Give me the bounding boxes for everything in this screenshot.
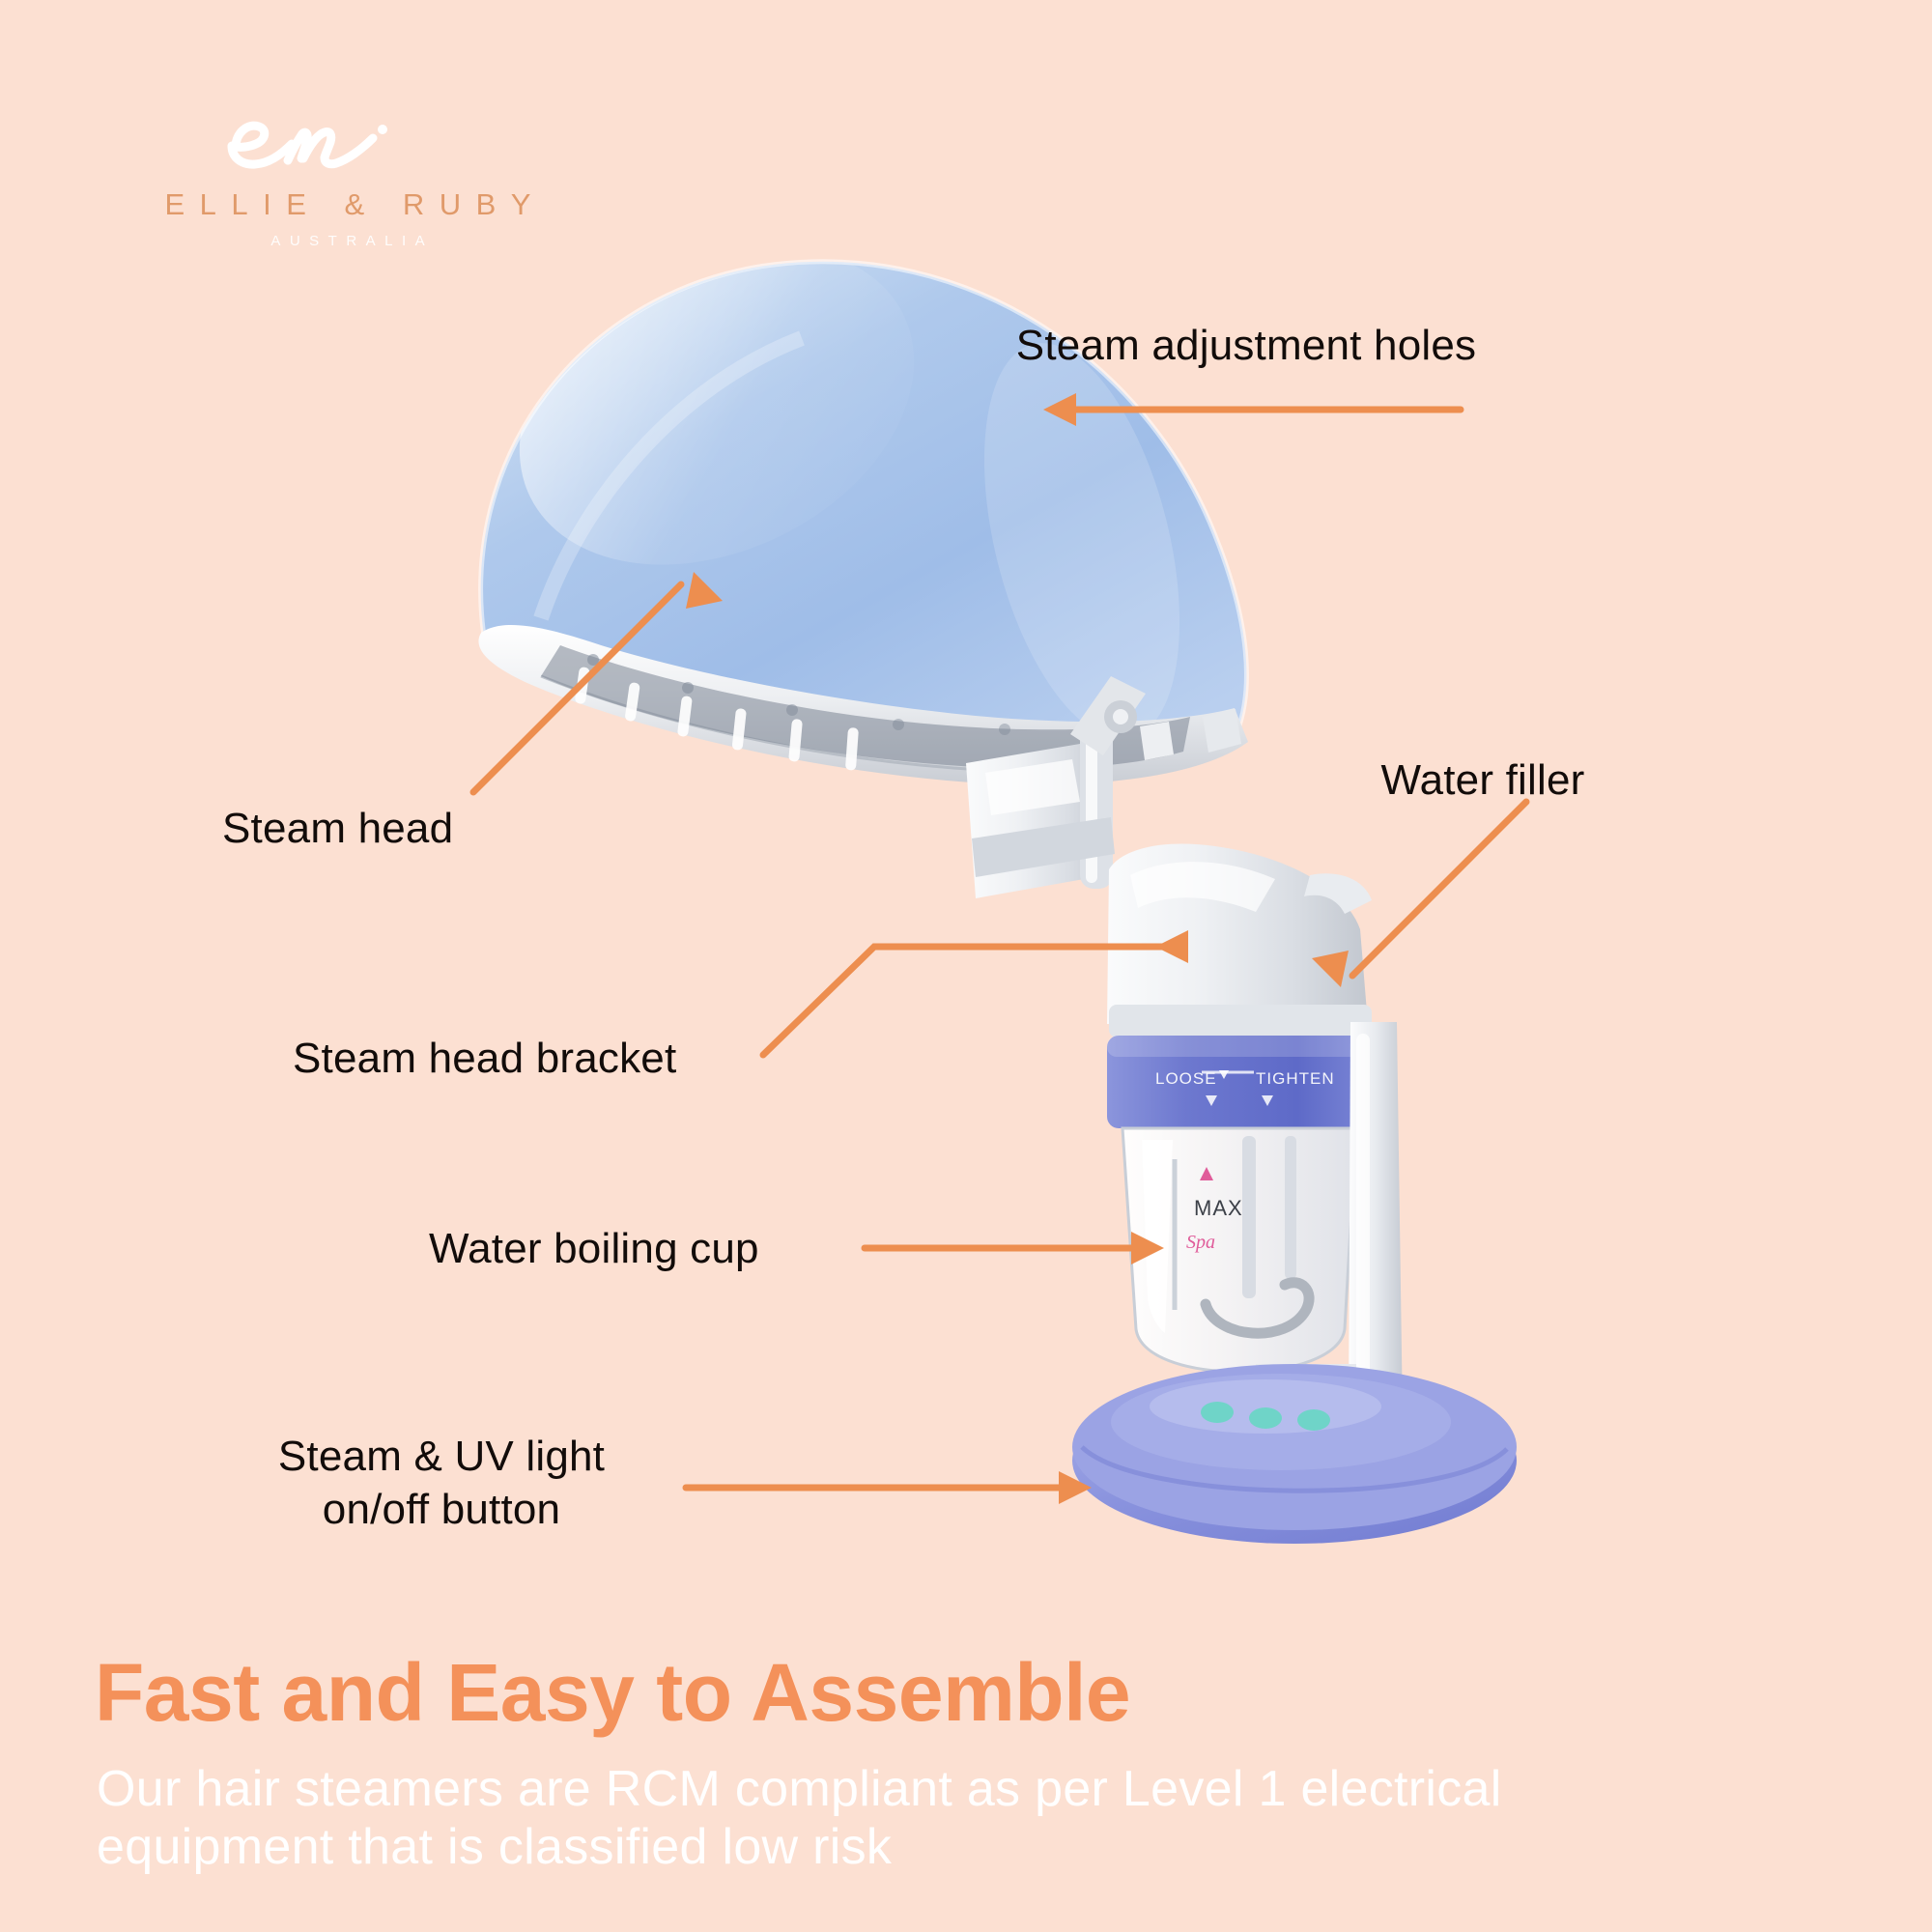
- callout-water-boiling-cup: Water boiling cup: [429, 1222, 759, 1275]
- footer-headline: Fast and Easy to Assemble: [95, 1646, 1130, 1740]
- steamer-base: [1072, 1364, 1517, 1544]
- footer-body: Our hair steamers are RCM compliant as p…: [97, 1760, 1662, 1877]
- callout-steam-adjustment-holes: Steam adjustment holes: [1016, 319, 1476, 372]
- callout-steam-head: Steam head: [222, 802, 453, 855]
- callout-water-filler: Water filler: [1380, 753, 1584, 807]
- steamer-body: [1107, 843, 1372, 1037]
- callout-steam-head-bracket: Steam head bracket: [293, 1032, 676, 1085]
- infographic-canvas: ELLIE & RUBY AUSTRALIA: [0, 0, 1932, 1932]
- product-illustration: LOOSE TIGHTEN MAX Spa: [0, 0, 1932, 1932]
- svg-text:MAX: MAX: [1194, 1196, 1243, 1220]
- collar-band: LOOSE TIGHTEN: [1107, 1036, 1372, 1128]
- callout-steam-uv-button: Steam & UV light on/off button: [278, 1430, 605, 1536]
- svg-text:TIGHTEN: TIGHTEN: [1256, 1069, 1335, 1088]
- leader-water-filler: [1352, 802, 1526, 976]
- svg-text:Spa: Spa: [1186, 1232, 1215, 1253]
